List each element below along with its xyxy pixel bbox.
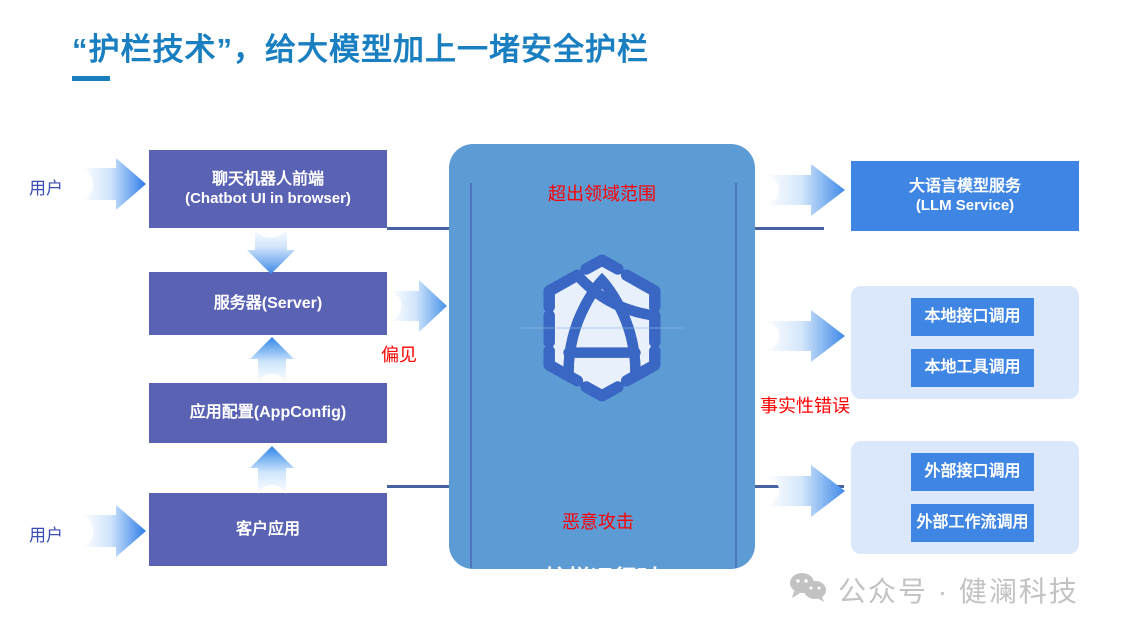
box-local-tool-call[interactable]: 本地工具调用 [911, 349, 1034, 387]
user-label-bottom: 用户 [29, 521, 63, 546]
box-llm-service[interactable]: 大语言模型服务 (LLM Service) [851, 161, 1079, 231]
box-server-label: 服务器(Server) [214, 294, 322, 314]
watermark: 公众号 · 健澜科技 [789, 570, 1079, 610]
box-app-config[interactable]: 应用配置(AppConfig) [149, 383, 387, 443]
arrow-up-clientapp-to-appconfig-icon [250, 446, 294, 494]
guardrails-runtime-panel[interactable]: 护栏运行时 (Guardrails runtime) [449, 144, 755, 569]
arrow-right-runtime-to-llm-icon [765, 164, 845, 216]
box-app-config-label: 应用配置(AppConfig) [190, 403, 346, 423]
arrow-right-server-to-runtime-icon [391, 280, 447, 332]
arrow-right-runtime-to-local-icon [765, 310, 845, 362]
guardrails-hexagon-globe-logo [514, 240, 690, 416]
arrow-up-appconfig-to-server-icon [250, 337, 294, 383]
panel-guide-line-right [735, 183, 737, 568]
arrow-right-runtime-to-external-icon [765, 465, 845, 517]
guardrails-runtime-label-cn: 护栏运行时 [449, 564, 755, 594]
box-server[interactable]: 服务器(Server) [149, 272, 387, 335]
box-llm-service-en: (LLM Service) [916, 197, 1014, 216]
box-local-api-call[interactable]: 本地接口调用 [911, 298, 1034, 336]
wechat-icon [789, 572, 827, 609]
slide-canvas: “护栏技术”，给大模型加上一堵安全护栏 [0, 0, 1131, 634]
box-chatbot-ui-en: (Chatbot UI in browser) [185, 190, 351, 209]
page-title: “护栏技术”，给大模型加上一堵安全护栏 [72, 24, 649, 69]
title-underline [72, 76, 110, 81]
box-local-tool-call-label: 本地工具调用 [924, 358, 1020, 378]
annotation-factual-error: 事实性错误 [760, 392, 850, 418]
arrow-right-user-to-chatbot-icon [82, 158, 146, 210]
box-client-app-label: 客户应用 [236, 520, 300, 540]
watermark-text: 公众号 · 健澜科技 [838, 570, 1079, 610]
box-chatbot-ui[interactable]: 聊天机器人前端 (Chatbot UI in browser) [149, 150, 387, 228]
box-external-api-call[interactable]: 外部接口调用 [911, 453, 1034, 491]
box-local-api-call-label: 本地接口调用 [924, 307, 1020, 327]
arrow-right-user-to-clientapp-icon [82, 505, 146, 557]
box-external-api-call-label: 外部接口调用 [924, 462, 1020, 482]
annotation-malicious-attack: 恶意攻击 [562, 508, 634, 534]
guardrails-runtime-label-en: (Guardrails runtime) [449, 594, 755, 623]
arrow-down-chatbot-to-server-icon [247, 228, 295, 274]
box-external-workflow-call-label: 外部工作流调用 [916, 513, 1028, 533]
annotation-out-of-scope: 超出领域范围 [548, 180, 656, 206]
box-external-workflow-call[interactable]: 外部工作流调用 [911, 504, 1034, 542]
panel-guide-line-left [470, 183, 472, 568]
guardrails-runtime-label: 护栏运行时 (Guardrails runtime) [449, 564, 755, 622]
box-llm-service-cn: 大语言模型服务 [909, 177, 1021, 197]
annotation-bias: 偏见 [381, 341, 417, 367]
box-client-app[interactable]: 客户应用 [149, 493, 387, 566]
box-chatbot-ui-cn: 聊天机器人前端 [212, 170, 324, 190]
user-label-top: 用户 [29, 174, 63, 199]
